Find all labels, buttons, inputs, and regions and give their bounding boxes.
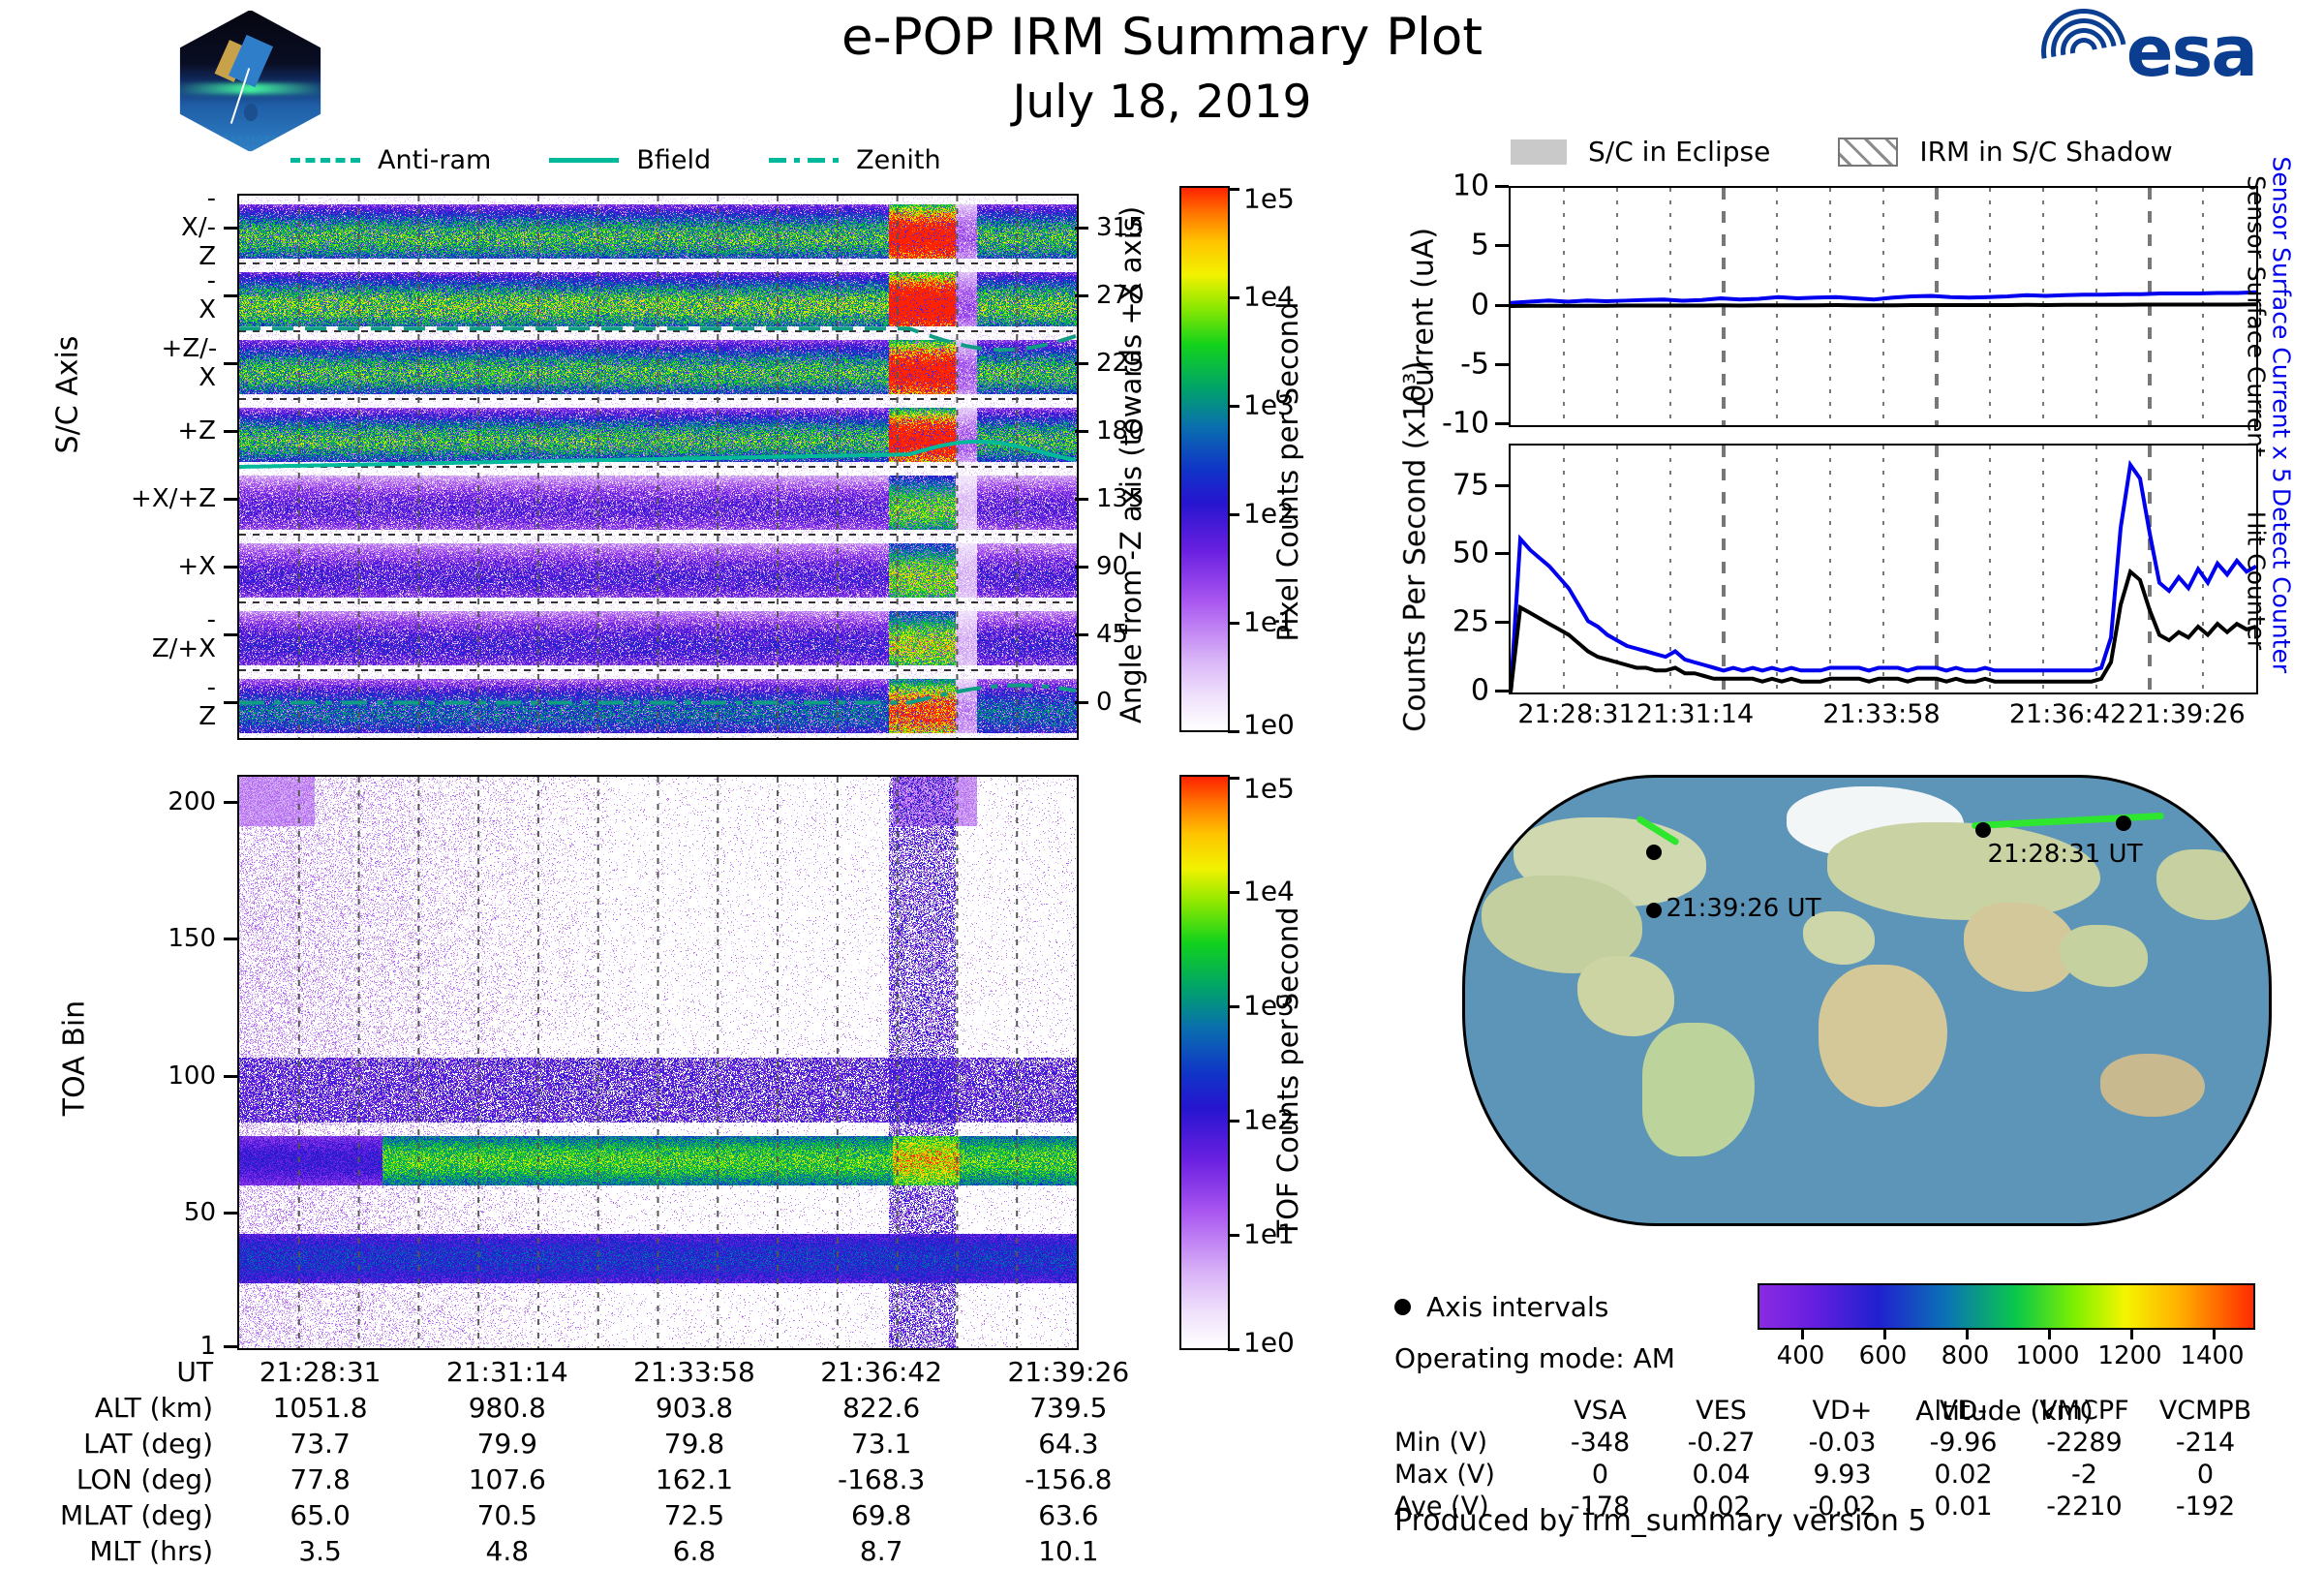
track-start-dot xyxy=(1975,822,1991,838)
ground-track-map: 21:28:31 UT 21:39:26 UT xyxy=(1462,775,2266,1220)
axis-tick-label: -5 xyxy=(1460,347,1489,381)
param-value: 73.1 xyxy=(788,1426,975,1461)
colorbar2-tick-1e5: 1e5 xyxy=(1243,772,1295,804)
counts-plot-canvas xyxy=(1511,446,2256,692)
param-value: 107.6 xyxy=(413,1461,600,1497)
angle-axis-title: Angle from -Z axis (towards +X axis) xyxy=(1131,455,1383,488)
table-row: MLAT (deg)65.070.572.569.863.6 xyxy=(19,1497,1162,1533)
time-tick-label: 21:36:42 xyxy=(2009,699,2126,729)
legend-swatch-zenith xyxy=(769,158,839,163)
param-value: 21:28:31 xyxy=(227,1354,413,1390)
eclipse-legend: S/C in Eclipse IRM in S/C Shadow xyxy=(1511,136,2173,168)
voltage-header: VSA xyxy=(1540,1395,1661,1427)
world-map: 21:28:31 UT 21:39:26 UT xyxy=(1462,775,2272,1226)
voltage-value: -2289 xyxy=(2024,1427,2145,1459)
param-value: 822.6 xyxy=(788,1390,975,1426)
param-value: -168.3 xyxy=(788,1461,975,1497)
voltage-value: -0.27 xyxy=(1661,1427,1782,1459)
y-tick xyxy=(1495,244,1509,247)
toa-tick-label: 200 xyxy=(168,787,216,816)
altitude-colorbar: 400600800100012001400 xyxy=(1758,1283,2255,1330)
table-row: Min (V)-348-0.27-0.03-9.96-2289-214 xyxy=(1394,1427,2266,1459)
voltage-value: -2210 xyxy=(2024,1491,2145,1523)
param-value: 21:39:26 xyxy=(975,1354,1162,1390)
voltage-header: VD+ xyxy=(1782,1395,1903,1427)
colorbar1-tick-1e5: 1e5 xyxy=(1243,183,1295,215)
sc-axis-tick-label: +X/+Z xyxy=(131,484,216,513)
param-value: 980.8 xyxy=(413,1390,600,1426)
spectrogram-legend: Anti-ram Bfield Zenith xyxy=(290,145,941,175)
param-value: 64.3 xyxy=(975,1426,1162,1461)
voltage-value: 0.04 xyxy=(1661,1459,1782,1491)
esa-wordmark: esa xyxy=(2126,16,2256,86)
counts-panel xyxy=(1509,444,2258,694)
voltage-value: 0 xyxy=(2145,1459,2266,1491)
y-tick xyxy=(224,227,237,230)
voltage-value: 0.02 xyxy=(1903,1459,2024,1491)
current-right-label-black: Sensor Surface Current xyxy=(2256,302,2324,330)
map-start-label: 21:28:31 UT xyxy=(1988,840,2143,869)
colorbar1-tick-1e0: 1e0 xyxy=(1243,709,1295,741)
current-plot-canvas xyxy=(1511,188,2256,425)
cassiope-mission-patch-icon: CASSIOPE xyxy=(179,10,320,150)
param-value: 739.5 xyxy=(975,1390,1162,1426)
legend-swatch-bfield xyxy=(549,158,619,163)
voltage-value: -348 xyxy=(1540,1427,1661,1459)
tof-counts-colorbar: 1e5 1e4 1e3 1e2 1e1 1e0 xyxy=(1179,775,1230,1350)
sc-axis-spectrogram-panel xyxy=(237,194,1079,740)
page-title: e-POP IRM Summary Plot xyxy=(0,8,2324,67)
param-value: 21:36:42 xyxy=(788,1354,975,1390)
param-value: 63.6 xyxy=(975,1497,1162,1533)
altitude-tick-label: 1000 xyxy=(2015,1341,2079,1370)
legend-swatch-eclipse xyxy=(1511,139,1567,165)
altitude-tick xyxy=(2048,1328,2051,1339)
param-value: 21:33:58 xyxy=(600,1354,787,1390)
param-value: 79.9 xyxy=(413,1426,600,1461)
sc-axis-tick-label: +Z xyxy=(177,416,216,446)
y-tick xyxy=(224,938,237,940)
param-value: 10.1 xyxy=(975,1533,1162,1569)
voltage-header: VCMPB xyxy=(2145,1395,2266,1427)
voltage-corner xyxy=(1394,1395,1540,1427)
table-row: LAT (deg)73.779.979.873.164.3 xyxy=(19,1426,1162,1461)
y-tick xyxy=(1495,552,1509,555)
map-end-label: 21:39:26 UT xyxy=(1667,894,1821,923)
legend-label-shadow: IRM in S/C Shadow xyxy=(1919,136,2172,168)
altitude-tick-label: 800 xyxy=(1942,1341,1990,1370)
y-tick xyxy=(224,1075,237,1078)
legend-label-zenith: Zenith xyxy=(856,145,940,175)
axis-tick-label: 5 xyxy=(1471,229,1489,262)
produced-by-footer: Produced by irm_summary version 5 xyxy=(1394,1504,1926,1538)
param-value: 73.7 xyxy=(227,1426,413,1461)
operating-mode-label: Operating mode: AM xyxy=(1394,1342,1675,1374)
table-row: MLT (hrs)3.54.86.88.710.1 xyxy=(19,1533,1162,1569)
param-value: 65.0 xyxy=(227,1497,413,1533)
sc-axis-ylabel: S/C Axis xyxy=(53,378,165,412)
y-tick xyxy=(1495,690,1509,692)
toa-bin-spectrogram-panel xyxy=(237,775,1079,1350)
y-tick xyxy=(224,633,237,636)
voltage-value: -214 xyxy=(2145,1427,2266,1459)
altitude-tick xyxy=(2130,1328,2133,1339)
param-value: 6.8 xyxy=(600,1533,787,1569)
param-value: 21:31:14 xyxy=(413,1354,600,1390)
y-tick xyxy=(224,1212,237,1215)
y-tick xyxy=(224,801,237,804)
axis-intervals-legend: Axis intervals xyxy=(1394,1291,1608,1323)
y-tick xyxy=(224,430,237,433)
param-key: ALT (km) xyxy=(19,1390,227,1426)
axis-intervals-dot-icon xyxy=(1394,1299,1411,1315)
param-value: 72.5 xyxy=(600,1497,787,1533)
axis-tick-label: 25 xyxy=(1452,605,1489,639)
param-value: 162.1 xyxy=(600,1461,787,1497)
track-end-dot-b xyxy=(1646,903,1662,918)
sc-axis-heatmap-canvas xyxy=(239,196,1077,738)
sc-axis-tick-label: +Z/-X xyxy=(162,334,216,392)
voltage-header: VES xyxy=(1661,1395,1782,1427)
time-tick-label: 21:28:31 xyxy=(1517,699,1635,729)
table-row: UT21:28:3121:31:1421:33:5821:36:4221:39:… xyxy=(19,1354,1162,1390)
legend-label-anti-ram: Anti-ram xyxy=(378,145,491,175)
sc-axis-tick-label: +X xyxy=(177,552,216,581)
axis-tick-label: 10 xyxy=(1452,169,1489,203)
table-row: LON (deg)77.8107.6162.1-168.3-156.8 xyxy=(19,1461,1162,1497)
track-point-dot xyxy=(2116,815,2131,831)
altitude-tick xyxy=(1966,1328,1969,1339)
page-subtitle: July 18, 2019 xyxy=(0,76,2324,129)
y-tick xyxy=(1495,484,1509,487)
orbit-track xyxy=(1972,813,2164,829)
sc-axis-tick-label: -Z xyxy=(199,673,216,731)
legend-swatch-shadow xyxy=(1838,138,1898,167)
counts-right-label-black: Hit Counter xyxy=(2256,567,2324,595)
param-value: 3.5 xyxy=(227,1533,413,1569)
param-value: 69.8 xyxy=(788,1497,975,1533)
sc-axis-tick-label: -Z/+X xyxy=(152,605,216,663)
orbit-parameter-table: UT21:28:3121:31:1421:33:5821:36:4221:39:… xyxy=(19,1354,1162,1569)
altitude-tick xyxy=(1801,1328,1804,1339)
voltage-key: Min (V) xyxy=(1394,1427,1540,1459)
voltage-key: Max (V) xyxy=(1394,1459,1540,1491)
param-key: MLAT (deg) xyxy=(19,1497,227,1533)
table-row: ALT (km)1051.8980.8903.8822.6739.5 xyxy=(19,1390,1162,1426)
y-tick xyxy=(224,294,237,297)
y-tick xyxy=(1495,363,1509,366)
y-tick xyxy=(224,362,237,365)
axis-tick-label: -10 xyxy=(1442,407,1489,441)
voltage-value: 0 xyxy=(1540,1459,1661,1491)
voltage-header: VMCPF xyxy=(2024,1395,2145,1427)
legend-label-bfield: Bfield xyxy=(636,145,711,175)
toa-tick-label: 50 xyxy=(184,1198,216,1227)
axis-intervals-label: Axis intervals xyxy=(1426,1291,1608,1323)
y-tick xyxy=(224,566,237,569)
y-tick xyxy=(1495,422,1509,425)
param-key: UT xyxy=(19,1354,227,1390)
voltage-value: -0.03 xyxy=(1782,1427,1903,1459)
param-value: -156.8 xyxy=(975,1461,1162,1497)
counts-xaxis-labels: 21:28:3121:31:1421:33:5821:36:4221:39:26 xyxy=(1509,699,2254,738)
param-value: 70.5 xyxy=(413,1497,600,1533)
altitude-tick xyxy=(1883,1328,1886,1339)
param-value: 8.7 xyxy=(788,1533,975,1569)
altitude-tick-label: 600 xyxy=(1859,1341,1908,1370)
voltage-value: 9.93 xyxy=(1782,1459,1903,1491)
toa-bin-ylabel: TOA Bin xyxy=(60,1041,171,1075)
voltage-value: -192 xyxy=(2145,1491,2266,1523)
param-key: LON (deg) xyxy=(19,1461,227,1497)
altitude-tick-label: 1400 xyxy=(2180,1341,2244,1370)
y-tick xyxy=(224,1345,237,1348)
time-tick-label: 21:31:14 xyxy=(1636,699,1754,729)
esa-logo: esa xyxy=(2041,8,2256,95)
legend-swatch-anti-ram xyxy=(290,158,360,163)
axis-tick-label: 50 xyxy=(1452,537,1489,570)
altitude-tick-label: 1200 xyxy=(2097,1341,2161,1370)
patch-label: CASSIOPE xyxy=(180,136,321,145)
toa-tick-label: 100 xyxy=(168,1061,216,1091)
angle-tick-label: 0 xyxy=(1096,688,1113,717)
axis-tick-label: 0 xyxy=(1471,674,1489,708)
sc-axis-tick-label: -X xyxy=(199,266,216,324)
y-tick xyxy=(1495,621,1509,624)
voltage-value: -9.96 xyxy=(1903,1427,2024,1459)
toa-tick-label: 150 xyxy=(168,924,216,953)
toa-bin-heatmap-canvas xyxy=(239,777,1077,1348)
altitude-tick-label: 400 xyxy=(1777,1341,1825,1370)
voltage-value: -2 xyxy=(2024,1459,2145,1491)
track-end-dot-a xyxy=(1646,845,1662,860)
param-key: LAT (deg) xyxy=(19,1426,227,1461)
sc-axis-tick-label: -X/-Z xyxy=(181,184,216,271)
voltage-header: VD- xyxy=(1903,1395,2024,1427)
param-value: 903.8 xyxy=(600,1390,787,1426)
esa-swirl-icon xyxy=(2041,9,2126,94)
colorbar2-tick-1e0: 1e0 xyxy=(1243,1327,1295,1359)
param-key: MLT (hrs) xyxy=(19,1533,227,1569)
y-tick xyxy=(224,701,237,704)
y-tick xyxy=(224,498,237,501)
time-tick-label: 21:39:26 xyxy=(2127,699,2245,729)
current-panel xyxy=(1509,186,2258,427)
y-tick xyxy=(1495,185,1509,188)
altitude-tick xyxy=(2213,1328,2216,1339)
legend-label-eclipse: S/C in Eclipse xyxy=(1588,136,1770,168)
param-value: 4.8 xyxy=(413,1533,600,1569)
time-tick-label: 21:33:58 xyxy=(1822,699,1940,729)
table-row: Max (V)00.049.930.02-20 xyxy=(1394,1459,2266,1491)
param-value: 1051.8 xyxy=(227,1390,413,1426)
param-value: 77.8 xyxy=(227,1461,413,1497)
param-value: 79.8 xyxy=(600,1426,787,1461)
